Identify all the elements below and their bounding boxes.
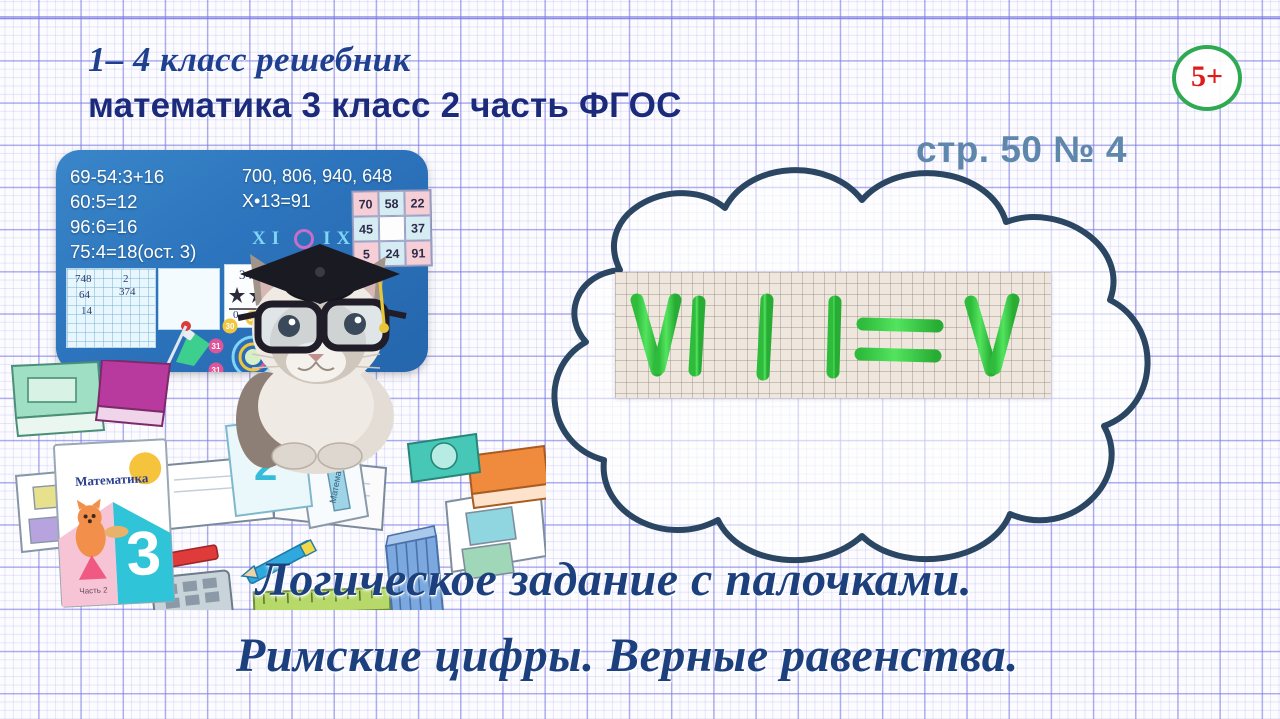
scribble-64: 64 (79, 289, 90, 301)
sticks-equation-graphic (615, 272, 1051, 398)
svg-text:3: 3 (125, 519, 163, 590)
orange-book-icon (468, 446, 546, 508)
expression-1: 69-54:3+16 (70, 164, 196, 189)
grid-cell: 37 (405, 215, 431, 240)
grid-cell: 70 (352, 191, 378, 216)
expression-4: 75:4=18(ост. 3) (70, 239, 196, 264)
age-rating-label: 5+ (1191, 62, 1223, 92)
purple-book-icon (96, 360, 170, 426)
grid-cell: 22 (404, 190, 430, 215)
cat-character (212, 238, 428, 474)
worksheet-long-division: 748 2 374 64 14 (66, 268, 156, 348)
thumbnail-canvas: 1– 4 класс решебник математика 3 класс 2… (0, 0, 1280, 719)
expression-2: 60:5=12 (70, 189, 196, 214)
counting-sticks-photo (615, 272, 1051, 398)
expression-3: 96:6=16 (70, 214, 196, 239)
math-expressions-left: 69-54:3+16 60:5=12 96:6=16 75:4=18(ост. … (70, 164, 196, 264)
scribble-2: 2 (123, 273, 129, 285)
green-book-icon (12, 362, 104, 436)
math-textbook-cover: Математика 3 Часть 2 (52, 437, 177, 609)
scribble-748: 748 (75, 273, 92, 285)
age-rating-badge: 5+ (1172, 45, 1242, 111)
scribble-14: 14 (81, 305, 92, 317)
number-list: 700, 806, 940, 648 (242, 164, 392, 189)
grid-cell: 58 (378, 191, 404, 216)
headline-line-2: математика 3 класс 2 часть ФГОС (88, 86, 682, 126)
caption-line-1: Логическое задание с палочками. (256, 552, 972, 607)
caption-line-2: Римские цифры. Верные равенства. (236, 628, 1019, 683)
scribble-374: 374 (119, 286, 136, 298)
headline-line-1: 1– 4 класс решебник (88, 40, 411, 80)
svg-text:Часть 2: Часть 2 (79, 585, 108, 595)
grid-top-band (0, 16, 1280, 19)
